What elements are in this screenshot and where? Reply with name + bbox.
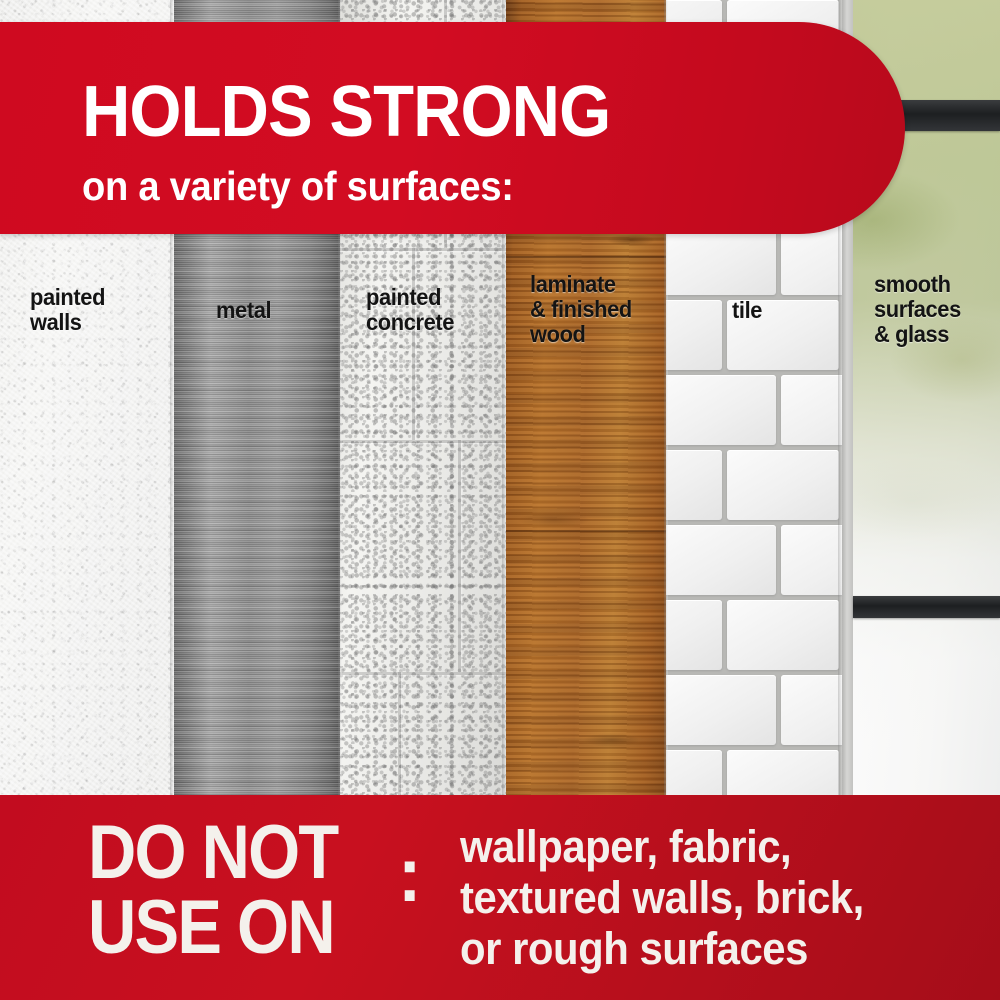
product-feature-infographic: HOLDS STRONG on a variety of surfaces: p… (0, 0, 1000, 1000)
headline-holds-strong: HOLDS STRONG (82, 76, 610, 148)
colon-separator: : (398, 835, 421, 913)
prohibited-surfaces-list: wallpaper, fabric, textured walls, brick… (460, 821, 864, 974)
surface-label-laminate-wood: laminate & finished wood (530, 272, 632, 347)
surface-label-metal: metal (216, 298, 271, 323)
window-mullion-lower (853, 596, 1000, 618)
subheadline-variety-of-surfaces: on a variety of surfaces: (82, 164, 514, 208)
do-not-use-on-banner: DO NOT USE ON : wallpaper, fabric, textu… (0, 795, 1000, 1000)
surface-label-painted-concrete: painted concrete (366, 285, 454, 335)
surface-label-smooth-glass: smooth surfaces & glass (874, 272, 961, 347)
surface-label-tile: tile (732, 298, 762, 323)
holds-strong-banner: HOLDS STRONG on a variety of surfaces: (0, 22, 905, 234)
do-not-use-on-label: DO NOT USE ON (88, 815, 338, 965)
surface-label-painted-walls: painted walls (30, 285, 105, 335)
